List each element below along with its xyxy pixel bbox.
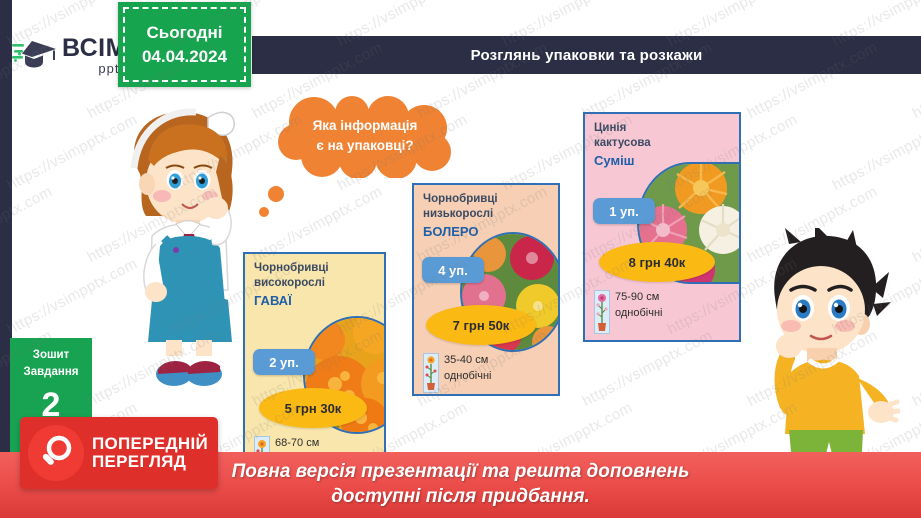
magnifier-icon [28,425,84,481]
today-date: 04.04.2024 [142,47,227,67]
card-quantity-badge: 4 уп. [422,257,484,283]
flower-pot-icon [594,290,610,334]
thought-bubble-dot-large [268,186,284,202]
watermark-text: https://vsimpptx.com [909,327,921,410]
card-title-line-2: низькорослі [423,208,493,220]
banner-line-2: доступні після придбання. [331,485,590,510]
card-title-line-1: Чорнобривці [254,262,329,274]
card-price-badge: 8 грн 40к [599,242,715,282]
bubble-line-1: Яка інформація [272,116,458,136]
card-variety-name: Суміш [594,152,651,169]
graduation-cap-icon [12,35,58,75]
page-title: Розглянь упаковки та розкажи [471,47,703,64]
seed-packet-card-bolero[interactable]: Чорнобривці низькорослі БОЛЕРО [412,183,560,396]
card-variety-name: ГАВАЇ [254,292,329,309]
thought-bubble-dot-small [259,207,269,217]
card-quantity-text: 1 уп. [609,204,639,219]
card-type-spec: однобічні [444,370,491,382]
watermark-text: https://vsimpptx.com [909,183,921,266]
card-variety-name: БОЛЕРО [423,223,498,240]
card-price-badge: 7 грн 50к [426,305,536,345]
card-title-line-1: Чорнобривці [423,193,498,205]
task-label-notebook: Зошит [10,347,92,364]
preview-line-2: ПЕРЕГЛЯД [92,453,208,471]
card-title-zinnia: Цинія кактусова Суміш [594,121,651,170]
card-specs: 75-90 см однобічні [594,290,734,334]
preview-badge: ПОПЕРЕДНІЙ ПЕРЕГЛЯД [20,417,218,489]
card-title-havai: Чорнобривці високорослі ГАВАЇ [254,261,329,310]
card-specs: 35-40 см однобічні [423,353,553,393]
thought-bubble-text: Яка інформація є на упаковці? [272,116,458,155]
slide-canvas: ВСІМ pptx Сьогодні 04.04.2024 Розглянь у… [0,0,921,518]
card-title-line-2: високорослі [254,277,325,289]
girl-character-illustration [104,104,264,394]
card-spec-text: 35-40 см однобічні [444,353,491,385]
card-quantity-text: 2 уп. [269,355,299,370]
card-height-spec: 75-90 см [615,291,659,303]
task-label-assignment: Завдання [10,364,92,381]
banner-line-1: Повна версія презентації та решта доповн… [232,460,690,485]
flower-pot-icon [423,353,439,393]
boy-character-illustration [745,228,900,488]
card-title-bolero: Чорнобривці низькорослі БОЛЕРО [423,192,498,241]
card-type-spec: однобічні [615,307,662,319]
seed-packet-card-zinnia[interactable]: Цинія кактусова Суміш [583,112,741,342]
card-spec-text: 75-90 см однобічні [615,290,662,322]
card-height-spec: 68-70 см [275,437,319,449]
header-bar: Розглянь упаковки та розкажи [252,36,921,74]
card-price-text: 7 грн 50к [453,318,510,333]
card-price-badge: 5 грн 30к [259,388,367,428]
card-quantity-text: 4 уп. [438,263,468,278]
card-price-text: 8 грн 40к [629,255,686,270]
thought-bubble: Яка інформація є на упаковці? [272,96,458,178]
card-quantity-badge: 2 уп. [253,349,315,375]
brand-logo: ВСІМ pptx [12,28,122,82]
preview-line-1: ПОПЕРЕДНІЙ [92,435,208,453]
bubble-line-2: є на упаковці? [272,136,458,156]
card-height-spec: 35-40 см [444,354,488,366]
card-quantity-badge: 1 уп. [593,198,655,224]
card-price-text: 5 грн 30к [285,401,342,416]
watermark-text: https://vsimpptx.com [829,111,921,194]
today-date-tag: Сьогодні 04.04.2024 [118,2,251,87]
today-label: Сьогодні [147,23,223,43]
card-title-line-2: кактусова [594,137,651,149]
card-title-line-1: Цинія [594,122,626,134]
